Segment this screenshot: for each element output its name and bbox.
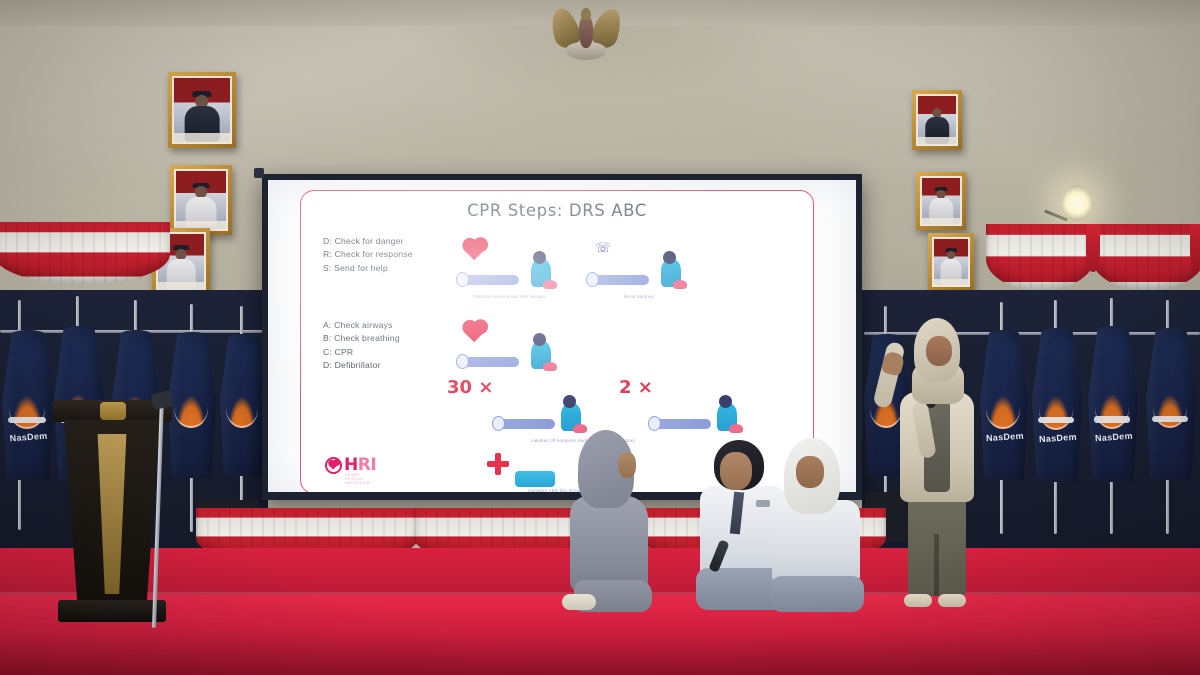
- bunting-upper-right: [986, 224, 1200, 290]
- person-presenter: [876, 318, 996, 618]
- rescuer-knee: [543, 362, 557, 371]
- presenter-sandal-left: [904, 594, 932, 607]
- abcd-steps-list: A: Check airways B: Check breathing C: C…: [323, 319, 400, 372]
- illustration-check-breathing: [461, 319, 557, 371]
- bunting-panel: [1092, 224, 1200, 290]
- nasdem-crescent-icon: [9, 390, 45, 429]
- portrait-nameplate: [174, 133, 230, 142]
- wall-lamp-icon: [1062, 185, 1092, 221]
- trainer-torso: [570, 496, 648, 592]
- portrait-image: [934, 239, 968, 285]
- bunting-upper-left: [0, 222, 170, 284]
- heart-icon: [464, 240, 485, 261]
- heart-icon: [464, 322, 485, 343]
- portrait-mat: [174, 169, 228, 231]
- victim-figure: [497, 419, 555, 429]
- nasdem-flag: [218, 334, 268, 476]
- portrait-mat: [932, 237, 970, 287]
- portrait-nameplate: [934, 279, 968, 285]
- logo-tagline: HEART RESCUE INDONESIA: [345, 473, 376, 485]
- organization-logo: HRI HEART RESCUE INDONESIA: [325, 455, 376, 475]
- rescuer-knee: [673, 280, 687, 289]
- nasdem-crescent-icon: [174, 390, 207, 428]
- portrait-image: [176, 171, 226, 229]
- student-legs: [770, 576, 864, 612]
- student-face: [720, 452, 752, 490]
- phone-call-icon: ☏: [595, 241, 609, 255]
- bunting-panel: [0, 222, 170, 284]
- bunting-panel: [986, 224, 1094, 290]
- person-trainer: [556, 430, 666, 620]
- victim-figure: [591, 275, 649, 285]
- caption-send-help: Minta bantuan: [587, 293, 691, 300]
- portrait-head: [947, 251, 955, 259]
- victim-figure: [653, 419, 711, 429]
- victim-figure: [461, 275, 519, 285]
- portrait-frame-right-3: [928, 233, 974, 291]
- portrait-mat: [916, 94, 958, 146]
- portrait-mat: [920, 176, 962, 226]
- victim-figure: [461, 357, 519, 367]
- nasdem-flag: NasDem: [1086, 326, 1140, 482]
- bunting-drop: [1086, 224, 1100, 272]
- presenter-trousers: [908, 494, 966, 596]
- portrait-frame-right-1: [912, 90, 962, 150]
- nasdem-crescent-icon: [226, 391, 258, 428]
- aed-device-icon: [515, 471, 555, 487]
- presenter-face: [926, 336, 952, 366]
- drs-step-s: S: Send for help: [323, 262, 413, 275]
- trainer-face: [618, 452, 636, 478]
- nasdem-flag: NasDem: [0, 330, 56, 480]
- portrait-image: [922, 178, 960, 224]
- portrait-nameplate: [922, 218, 960, 224]
- person-student-assistant: [762, 438, 868, 620]
- abcd-step-b: B: Check breathing: [323, 332, 400, 345]
- portrait-mat: [172, 76, 232, 144]
- breath-count: 2 ×: [619, 377, 653, 398]
- flag-accent-line: [1152, 416, 1189, 422]
- podium-lectern: [58, 400, 166, 630]
- abcd-step-a: A: Check airways: [323, 319, 400, 332]
- nasdem-flag: [1144, 328, 1198, 480]
- trainer-shoe: [562, 594, 596, 610]
- rescuer-knee: [729, 424, 743, 433]
- presenter-hand: [881, 351, 906, 377]
- heart-in-circle-icon: [325, 457, 342, 474]
- portrait-nameplate: [918, 137, 956, 144]
- garuda-head: [581, 8, 591, 20]
- nasdem-flag: [166, 332, 218, 478]
- podium-base: [58, 600, 166, 622]
- presenter-sandal-right: [938, 594, 966, 607]
- logo-text-h: H: [344, 455, 358, 475]
- drs-step-d: D: Check for danger: [323, 235, 413, 248]
- nasdem-flag: NasDem: [1030, 328, 1084, 482]
- illustration-send-help: ☏: [591, 237, 687, 289]
- drs-step-r: R: Check for response: [323, 248, 413, 261]
- portrait-image: [918, 96, 956, 144]
- portrait-frame-left-2: [170, 165, 232, 235]
- illustration-check-danger: [461, 237, 557, 289]
- compression-count: 30 ×: [447, 377, 493, 398]
- flag-accent-line: [8, 417, 46, 423]
- slide-title: CPR Steps: DRS ABC: [301, 201, 813, 220]
- garuda-body: [579, 16, 593, 48]
- logo-wordmark: HRI: [344, 455, 376, 475]
- presenter-raised-arm: [872, 341, 905, 409]
- portrait-image: [174, 78, 230, 142]
- red-cross-icon: [487, 453, 509, 475]
- illustration-compressions: [497, 387, 587, 433]
- bunting-drop: [1190, 224, 1200, 272]
- garuda-pancasila-emblem-icon: [536, 2, 636, 62]
- drs-steps-list: D: Check for danger R: Check for respons…: [323, 235, 413, 275]
- flag-accent-line: [1038, 417, 1075, 423]
- podium-emblem-icon: [100, 402, 126, 420]
- caption-check-danger: Pastikan lokasi aman dari bahaya: [451, 293, 567, 300]
- logo-text-ri: RI: [358, 455, 376, 475]
- portrait-frame-left-1: [168, 72, 236, 148]
- presentation-scene: NasDem NasDem NasDem: [0, 0, 1200, 675]
- illustration-rescue-breaths: [653, 387, 743, 433]
- abcd-step-d: D: Defibrillator: [323, 359, 400, 372]
- abcd-step-c: C: CPR: [323, 346, 400, 359]
- student-face: [796, 456, 824, 488]
- flag-accent-line: [1094, 416, 1131, 422]
- portrait-frame-right-2: [916, 172, 966, 230]
- nasdem-crescent-icon: [1095, 388, 1130, 429]
- rescuer-knee: [543, 280, 557, 289]
- nasdem-crescent-icon: [1039, 390, 1074, 430]
